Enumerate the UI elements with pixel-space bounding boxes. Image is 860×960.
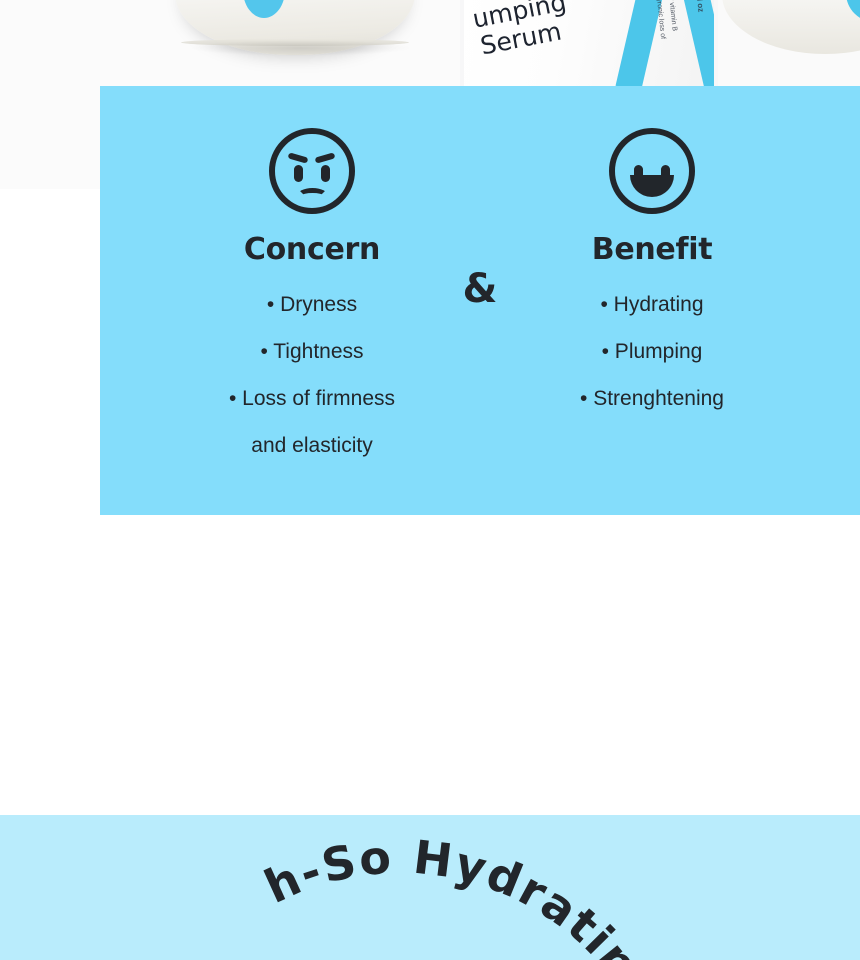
panel-columns: Concern • Dryness • Tightness • Loss of … [100, 86, 860, 515]
bottle-fine-print-1: yronic loss of [655, 0, 666, 39]
bottle-fine-print-2: dr vitamin B [667, 0, 678, 31]
concern-benefit-panel: Concern • Dryness • Tightness • Loss of … [100, 86, 860, 515]
list-item: • Loss of firmness and elasticity [162, 375, 462, 469]
bottom-headline-band: h-So Hydratin [0, 815, 860, 960]
eye-right [321, 165, 330, 182]
concern-column: Concern • Dryness • Tightness • Loss of … [162, 128, 462, 469]
concern-list: • Dryness • Tightness • Loss of firmness… [162, 281, 462, 469]
list-item: • Tightness [162, 328, 462, 375]
product-photo-right [718, 0, 860, 89]
product-bottle: umping Serum yronic loss of dr vitamin B… [464, 0, 714, 89]
benefit-column: Benefit • Hydrating • Plumping • Strengh… [502, 128, 802, 422]
eyebrow-right [315, 152, 336, 163]
jar-accent-dot [846, 0, 860, 22]
bottle-ribbon-right [676, 0, 714, 89]
benefit-title: Benefit [502, 232, 802, 267]
curved-headline-text: h-So Hydratin [257, 830, 651, 960]
smiling-mouth [630, 175, 674, 197]
list-item: • Hydrating [502, 281, 802, 328]
sad-face-icon [269, 128, 355, 214]
product-photo-middle: umping Serum yronic loss of dr vitamin B… [464, 0, 714, 89]
concern-title: Concern [162, 232, 462, 267]
happy-face-icon [609, 128, 695, 214]
list-item: • Strenghtening [502, 375, 802, 422]
eye-left [294, 165, 303, 182]
curved-headline-svg: h-So Hydratin [0, 815, 860, 960]
jar-shadow [188, 40, 413, 56]
benefit-list: • Hydrating • Plumping • Strenghtening [502, 281, 802, 422]
product-jar-right [722, 0, 860, 54]
frowning-mouth [297, 188, 328, 203]
eyebrow-left [288, 152, 309, 163]
jar-accent-dot [243, 0, 285, 18]
list-item: • Dryness [162, 281, 462, 328]
list-item: • Plumping [502, 328, 802, 375]
